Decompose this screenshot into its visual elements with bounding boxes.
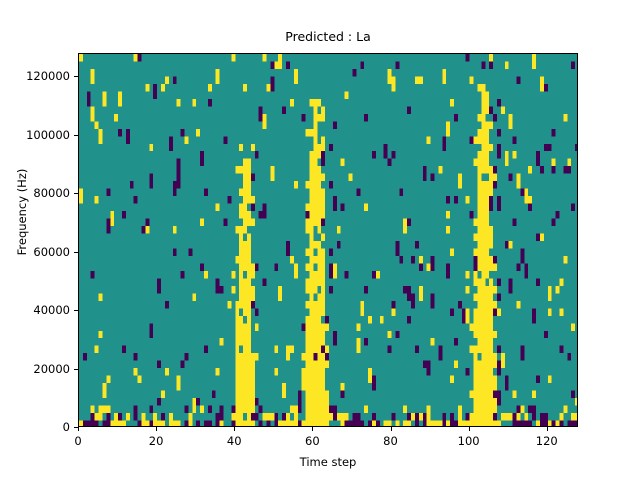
y-tick-mark bbox=[74, 135, 78, 136]
x-axis-label: Time step bbox=[78, 455, 578, 469]
y-tick-mark bbox=[74, 252, 78, 253]
spectrogram-heatmap bbox=[79, 54, 578, 427]
y-tick-label: 40000 bbox=[33, 303, 70, 317]
y-tick-label: 120000 bbox=[26, 69, 70, 83]
y-tick-label: 80000 bbox=[33, 186, 70, 200]
x-tick-label: 100 bbox=[458, 434, 480, 448]
x-tick-label: 40 bbox=[227, 434, 242, 448]
x-tick-mark bbox=[391, 427, 392, 431]
x-tick-label: 0 bbox=[74, 434, 81, 448]
x-tick-mark bbox=[469, 427, 470, 431]
y-tick-label: 0 bbox=[63, 420, 70, 434]
y-tick-label: 60000 bbox=[33, 245, 70, 259]
y-tick-label: 100000 bbox=[26, 128, 70, 142]
y-tick-mark bbox=[74, 310, 78, 311]
y-tick-mark bbox=[74, 369, 78, 370]
y-tick-label: 20000 bbox=[33, 362, 70, 376]
y-tick-mark bbox=[74, 76, 78, 77]
x-tick-label: 80 bbox=[383, 434, 398, 448]
x-tick-mark bbox=[234, 427, 235, 431]
x-tick-mark bbox=[547, 427, 548, 431]
figure-canvas: Predicted : La Frequency (Hz) 0200004000… bbox=[0, 0, 640, 480]
y-axis-label: Frequency (Hz) bbox=[15, 72, 29, 352]
y-tick-mark bbox=[74, 193, 78, 194]
x-tick-mark bbox=[156, 427, 157, 431]
page-title: Predicted : La bbox=[78, 29, 578, 44]
heatmap-plot-area[interactable] bbox=[78, 53, 578, 427]
x-tick-mark bbox=[78, 427, 79, 431]
x-tick-label: 60 bbox=[305, 434, 320, 448]
x-tick-label: 20 bbox=[149, 434, 164, 448]
x-tick-mark bbox=[312, 427, 313, 431]
x-tick-label: 120 bbox=[536, 434, 558, 448]
